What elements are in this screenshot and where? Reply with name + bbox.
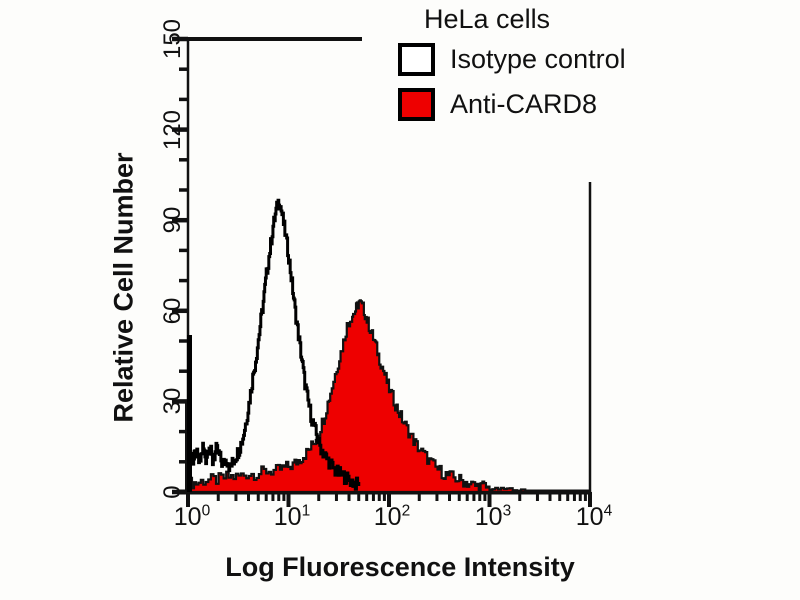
plot-canvas — [0, 0, 800, 600]
flow-cytometry-histogram-figure: Relative Cell Number Log Fluorescence In… — [0, 0, 800, 600]
data-layer — [188, 200, 590, 492]
series-anti-card8 — [188, 300, 590, 492]
